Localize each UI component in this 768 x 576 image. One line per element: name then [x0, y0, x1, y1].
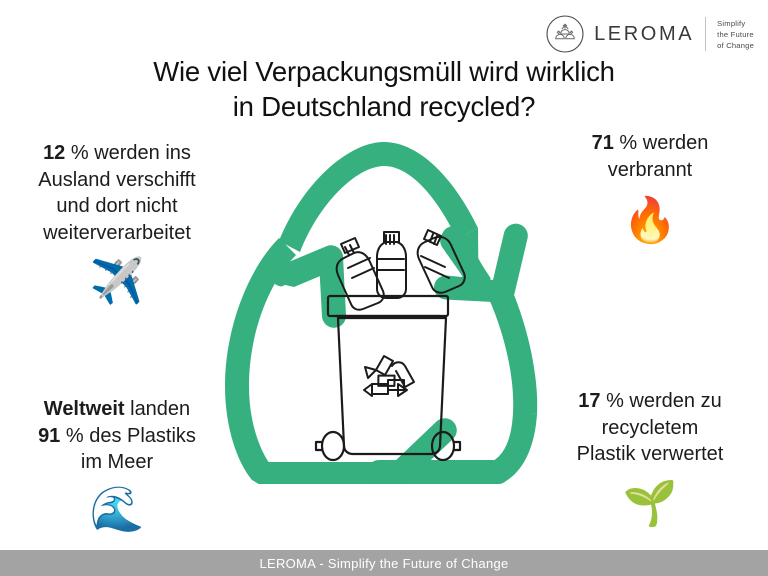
stat-plastic-in-ocean: Weltweit landen 91 % des Plastiks im Mee… — [2, 396, 232, 532]
stat-plastic-in-ocean-value: 91 — [38, 425, 60, 447]
logo-divider — [705, 17, 706, 51]
footer-text: LEROMA - Simplify the Future of Change — [259, 556, 508, 571]
stat-incinerated: 71 % werden verbrannt 🔥 — [534, 130, 766, 243]
leroma-circle-nodes-icon — [545, 14, 585, 54]
stat-plastic-in-ocean-text: Weltweit landen 91 % des Plastiks im Mee… — [2, 396, 232, 476]
leroma-tagline: Simplify the Future of Change — [717, 18, 754, 51]
stat-recycled-plastic: 17 % werden zu recycletem Plastik verwer… — [534, 388, 766, 526]
leroma-logo: LEROMA Simplify the Future of Change — [545, 12, 754, 56]
recycling-arrows-icon — [225, 142, 537, 484]
page-title: Wie viel Verpackungsmüll wird wirklich i… — [0, 55, 768, 124]
fire-icon: 🔥 — [534, 199, 766, 243]
footer-bar: LEROMA - Simplify the Future of Change — [0, 550, 768, 576]
stat-exported-abroad-value: 12 — [43, 142, 65, 164]
stat-plastic-in-ocean-label-a: landen — [125, 398, 191, 420]
stat-recycled-plastic-value: 17 — [578, 390, 600, 412]
stat-plastic-in-ocean-label-b: % des Plastiks im Meer — [60, 425, 196, 474]
stat-incinerated-value: 71 — [592, 132, 614, 154]
stat-exported-abroad-text: 12 % werden ins Ausland verschifft und d… — [2, 140, 232, 246]
airplane-icon: ✈️ — [2, 260, 232, 304]
seedling-icon: 🌱 — [534, 482, 766, 526]
leroma-wordmark: LEROMA — [594, 23, 694, 46]
infographic-canvas: LEROMA Simplify the Future of Change Wie… — [0, 0, 768, 576]
title-line-2: in Deutschland recycled? — [233, 91, 535, 122]
title-line-1: Wie viel Verpackungsmüll wird wirklich — [153, 56, 615, 87]
stat-recycled-plastic-text: 17 % werden zu recycletem Plastik verwer… — [534, 388, 766, 468]
recycle-symbol-icon — [364, 356, 414, 396]
water-wave-icon: 🌊 — [2, 488, 232, 532]
stat-exported-abroad: 12 % werden ins Ausland verschifft und d… — [2, 140, 232, 304]
stat-incinerated-label: % werden verbrannt — [608, 132, 709, 181]
stat-plastic-in-ocean-lead: Weltweit — [44, 398, 125, 420]
recycling-arrows-with-bin — [206, 128, 556, 484]
stat-incinerated-text: 71 % werden verbrannt — [534, 130, 766, 183]
